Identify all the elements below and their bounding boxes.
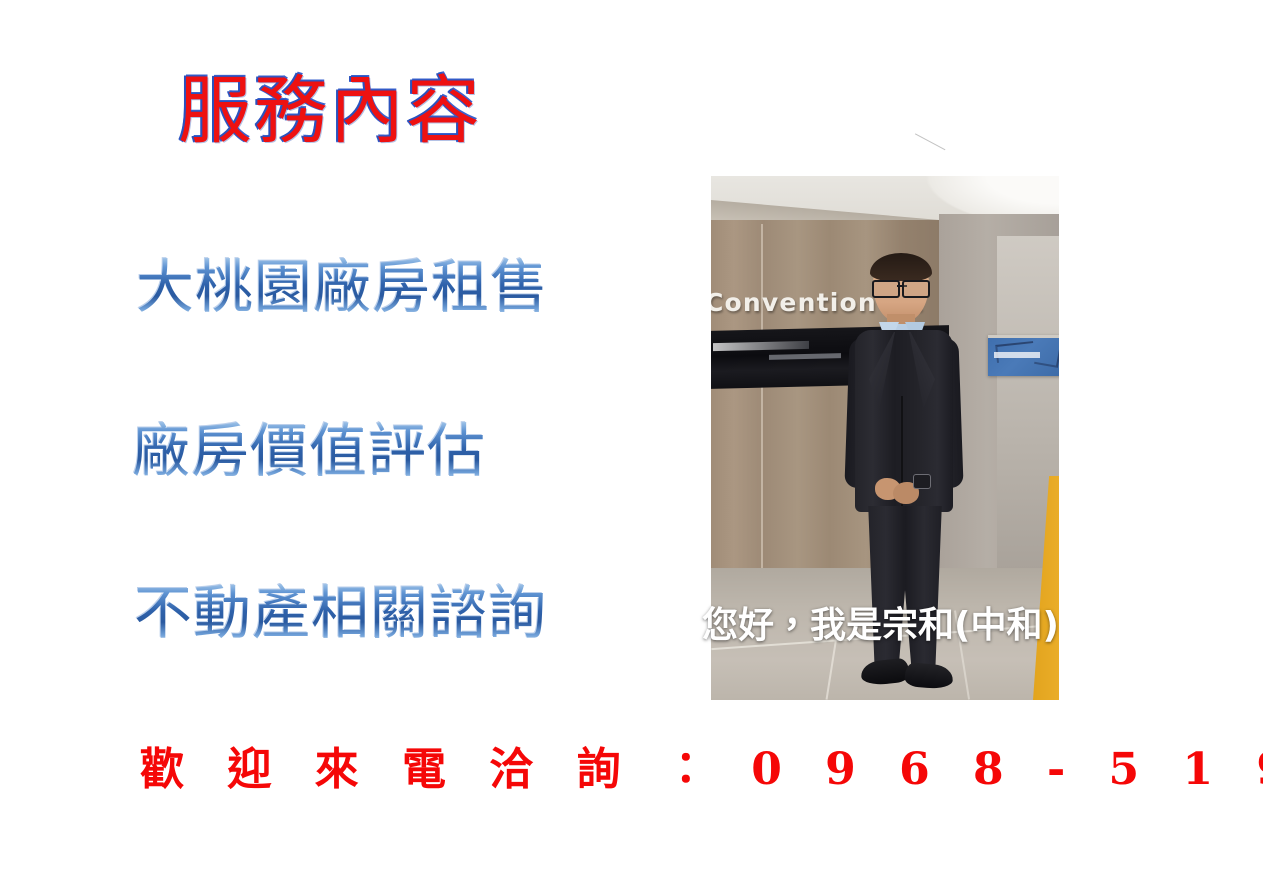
poster-label-strip bbox=[994, 352, 1040, 358]
photo-caption: 您好，我是宗和(中和) bbox=[702, 606, 1059, 646]
glasses-lens-left bbox=[872, 280, 900, 298]
person-shoe-left bbox=[860, 658, 910, 687]
service-item-3: 不動產相關諮詢 bbox=[134, 584, 547, 642]
glasses-lens-right bbox=[902, 280, 930, 298]
slide-canvas: 服務內容 大桃園廠房租售 廠房價值評估 不動產相關諮詢 Convention C… bbox=[0, 0, 1263, 891]
glasses-icon bbox=[871, 280, 931, 295]
service-item-2: 廠房價值評估 bbox=[132, 422, 486, 480]
person-hair bbox=[870, 253, 932, 281]
contact-phone-line: 歡 迎 來 電 洽 詢 ： 0 9 6 8 - 5 1 9 - 8 8 8 bbox=[140, 748, 1263, 792]
photo-wall-seam bbox=[761, 224, 763, 578]
service-item-1: 大桃園廠房租售 bbox=[136, 258, 549, 316]
page-title: 服務內容 bbox=[178, 74, 482, 148]
person-shoe-right bbox=[904, 662, 954, 690]
photo-blue-poster bbox=[988, 335, 1059, 376]
scan-artifact-line bbox=[905, 133, 946, 169]
wristwatch-icon bbox=[913, 474, 931, 489]
